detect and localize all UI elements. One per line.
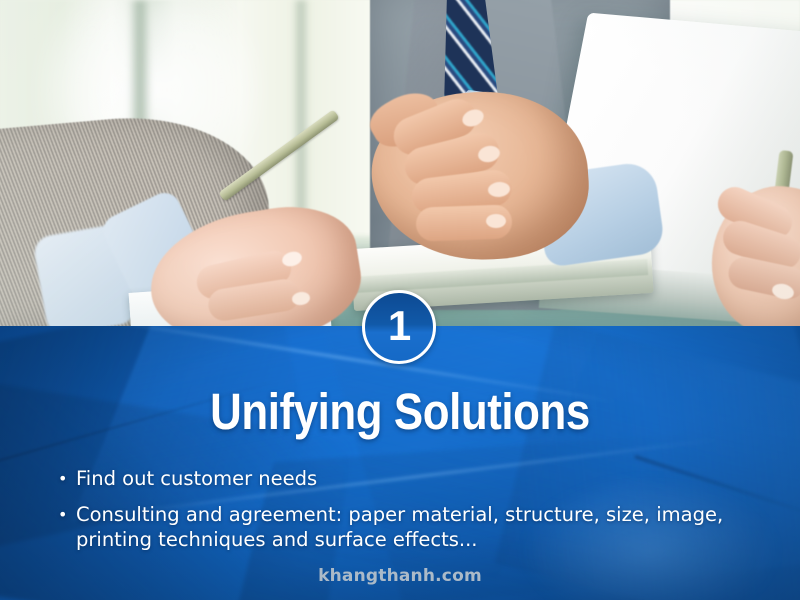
step-number-label: 1 [388, 305, 410, 347]
fingernail-icon [486, 214, 506, 228]
bullet-marker-icon: • [58, 466, 76, 491]
bullet-list: • Find out customer needs • Consulting a… [58, 466, 758, 563]
slide: 1 Unifying Solutions • Find out customer… [0, 0, 800, 600]
list-item: • Consulting and agreement: paper materi… [58, 502, 758, 552]
page-title: Unifying Solutions [56, 386, 744, 437]
watermark: khangthanh.com [0, 566, 800, 586]
step-number-badge: 1 [362, 290, 436, 364]
bullet-marker-icon: • [58, 502, 76, 527]
list-item-label: Find out customer needs [76, 466, 758, 491]
list-item: • Find out customer needs [58, 466, 758, 491]
list-item-label: Consulting and agreement: paper material… [76, 502, 758, 552]
header-photo [0, 0, 800, 326]
